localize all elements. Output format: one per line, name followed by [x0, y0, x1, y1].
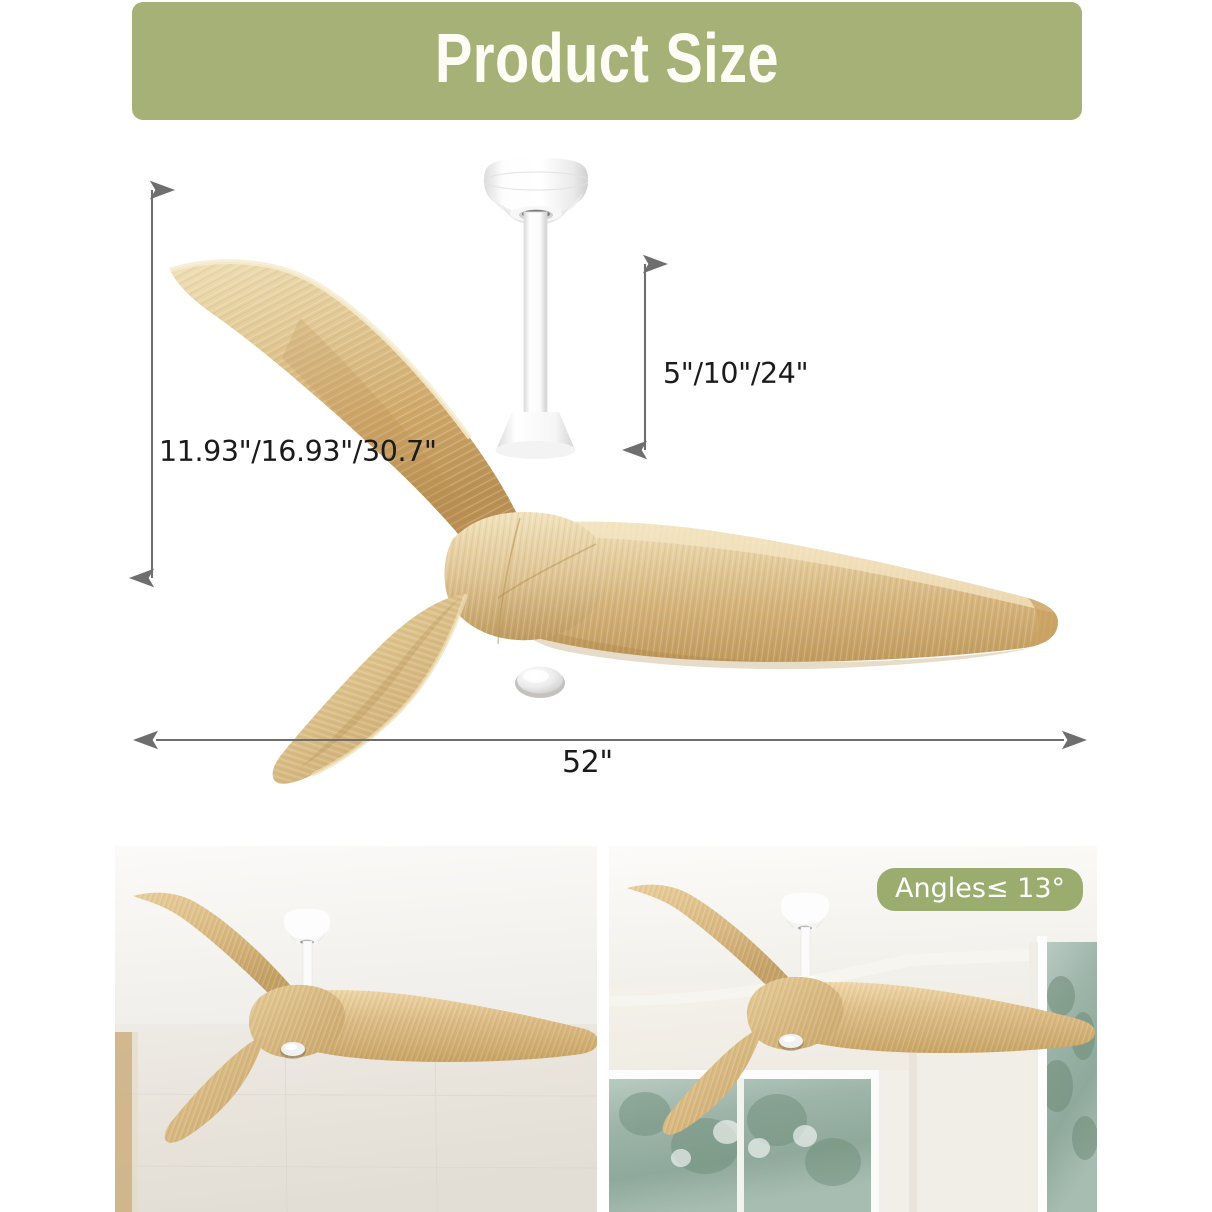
height-dimension-label: 11.93"/16.93"/30.7" [159, 435, 437, 468]
width-dimension-label: 52" [562, 745, 613, 780]
downrod-icon [524, 212, 547, 418]
motor-housing-icon [496, 412, 576, 459]
page-title: Product Size [435, 23, 779, 99]
product-size-infographic: Product Size [0, 0, 1212, 1212]
hub-light-cap-icon [515, 667, 565, 699]
product-diagram: 11.93"/16.93"/30.7" 5"/10"/24" 52" [0, 120, 1212, 820]
lifestyle-photo-row: Angles≤ 13° [0, 846, 1212, 1212]
angle-limit-badge: Angles≤ 13° [877, 868, 1083, 911]
fan-blade-upper-left [170, 262, 520, 548]
photo-fan-in-room-with-windows[interactable]: Angles≤ 13° [609, 846, 1097, 1212]
fan-blade-lower-left [273, 594, 466, 784]
photo-fan-on-white-ceiling-tiled-wall[interactable] [115, 846, 597, 1212]
photo-left-scene [115, 846, 597, 1212]
ceiling-fan-illustration [0, 120, 1212, 820]
downrod-dimension-label: 5"/10"/24" [663, 357, 808, 390]
header-banner: Product Size [132, 2, 1082, 120]
